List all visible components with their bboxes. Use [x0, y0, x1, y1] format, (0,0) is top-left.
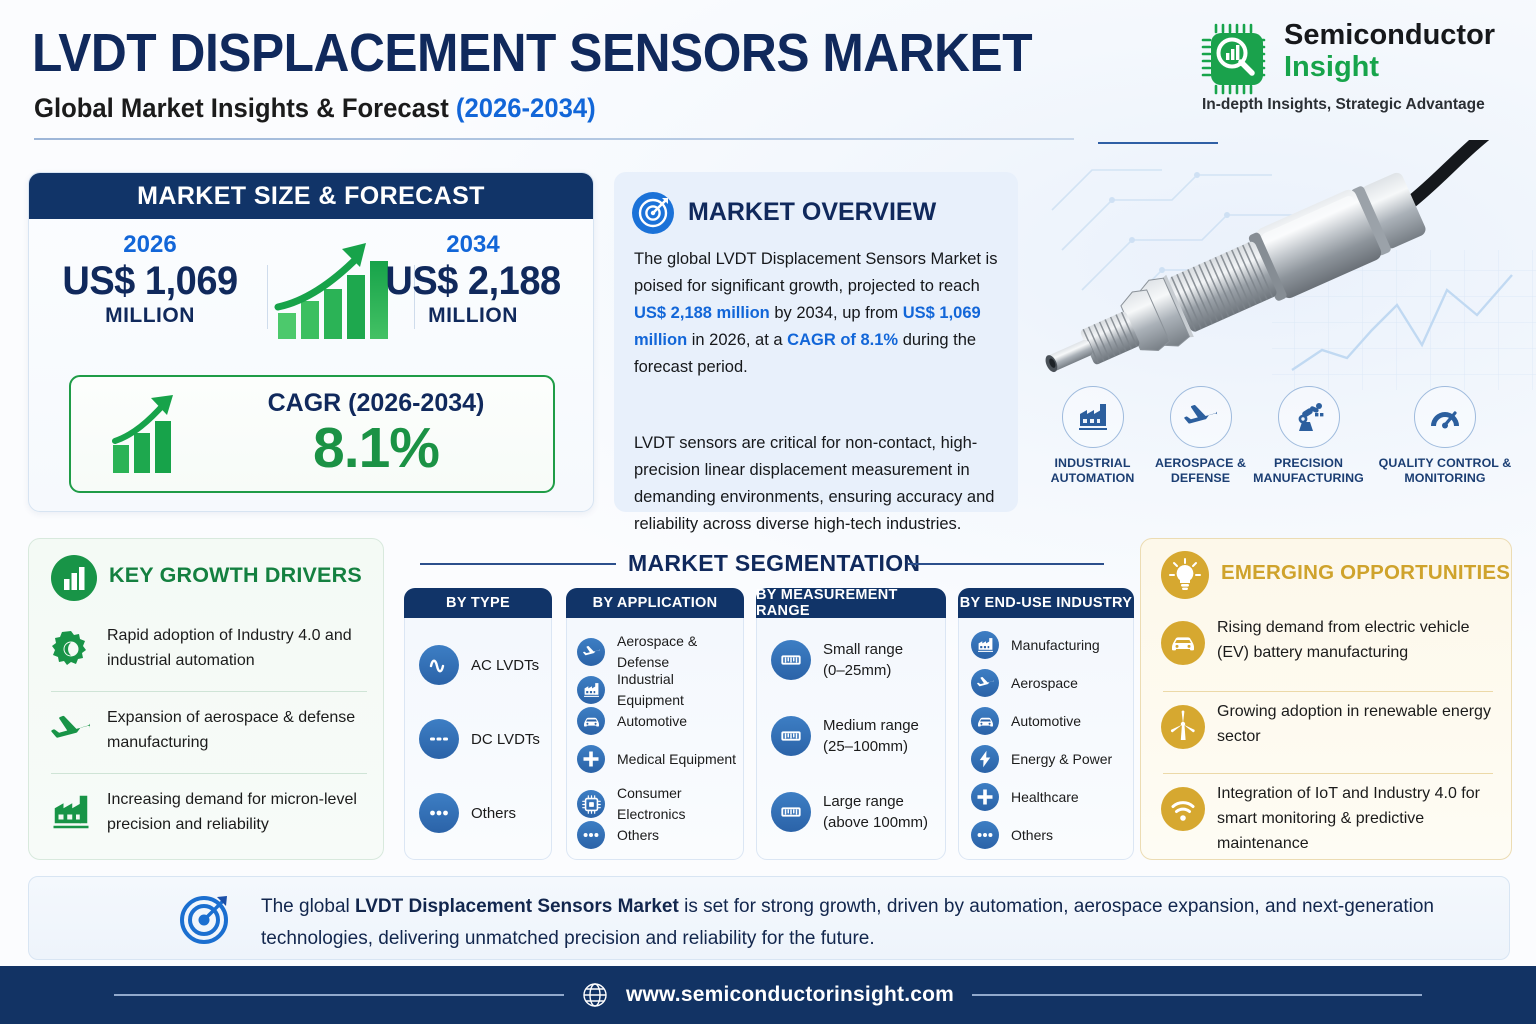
opportunity-text: Integration of IoT and Industry 4.0 for … — [1217, 781, 1503, 856]
segment-label: DC LVDTs — [471, 729, 540, 750]
subtitle-text: Global Market Insights & Forecast — [34, 93, 456, 123]
segment-item[interactable]: Energy & Power — [971, 745, 1112, 773]
car-icon — [1161, 621, 1205, 665]
airplane-icon — [577, 638, 605, 666]
footer-rule-right — [972, 994, 1422, 996]
segment-item[interactable]: Consumer Electronics — [577, 783, 743, 825]
segment-item[interactable]: DC LVDTs — [419, 719, 540, 759]
segment-label: Automotive — [1011, 711, 1081, 732]
segment-label: Others — [471, 803, 516, 824]
ellipsis-icon — [971, 821, 999, 849]
industry-label: INDUSTRIALAUTOMATION — [1030, 456, 1155, 486]
market-overview-paragraph-2: LVDT sensors are critical for non-contac… — [634, 430, 1002, 538]
forecast-value: US$ 2,188 — [369, 259, 578, 304]
ruler-icon — [771, 792, 811, 832]
airplane-icon — [971, 669, 999, 697]
segment-item[interactable]: Healthcare — [971, 783, 1079, 811]
driver-separator — [51, 773, 367, 774]
header-divider — [34, 138, 1074, 140]
gauge-icon — [1414, 386, 1476, 448]
opportunity-separator — [1163, 691, 1493, 692]
growth-bar-chart-arrow-icon — [109, 395, 187, 475]
industry-label: QUALITY CONTROL &MONITORING — [1360, 456, 1530, 486]
bar-chart-circle-icon — [51, 555, 97, 601]
driver-text: Expansion of aerospace & defense manufac… — [107, 705, 369, 755]
summary-bar: The global LVDT Displacement Sensors Mar… — [28, 876, 1510, 960]
footer-url: www.semiconductorinsight.com — [626, 983, 954, 1007]
ruler-icon — [771, 640, 811, 680]
opportunities-title: EMERGING OPPORTUNITIES — [1221, 561, 1510, 585]
key-growth-drivers-card: KEY GROWTH DRIVERS Rapid adoption of Ind… — [28, 538, 384, 860]
car-icon — [971, 707, 999, 735]
industry-aerospace-defense: AEROSPACE &DEFENSE — [1138, 386, 1263, 486]
chip-magnifier-bar-chart-icon — [1200, 22, 1274, 96]
gear-icon — [51, 629, 91, 669]
segmentation-title: MARKET SEGMENTATION — [628, 550, 920, 577]
segmentation-column-by-end-use-industry: BY END-USE INDUSTRY Manufacturing Aerosp… — [958, 588, 1134, 860]
market-size-card: MARKET SIZE & FORECAST 2026 US$ 1,069 MI… — [28, 172, 594, 512]
factory-icon — [1062, 386, 1124, 448]
medical-cross-icon — [971, 783, 999, 811]
ellipsis-icon — [419, 793, 459, 833]
subtitle-years: (2026-2034) — [456, 93, 596, 123]
segment-item[interactable]: Medical Equipment — [577, 745, 736, 773]
industry-label: AEROSPACE &DEFENSE — [1138, 456, 1263, 486]
forecast-year-block: 2034 US$ 2,188 MILLION — [363, 231, 583, 328]
forecast-year-label: 2034 — [363, 231, 583, 259]
chip-icon — [577, 790, 605, 818]
cagr-box: CAGR (2026-2034) 8.1% — [69, 375, 555, 493]
market-overview-paragraph-1: The global LVDT Displacement Sensors Mar… — [634, 246, 1002, 381]
market-overview-title: MARKET OVERVIEW — [688, 198, 936, 227]
infographic-page: LVDT DISPLACEMENT SENSORS MARKET Global … — [0, 0, 1536, 1024]
segment-label: Medical Equipment — [617, 749, 736, 770]
factory-icon — [971, 631, 999, 659]
segmentation-column-by-measurement-range: BY MEASUREMENT RANGE Small range (0–25mm… — [756, 588, 946, 860]
footer-rule-left — [114, 994, 564, 996]
opportunity-text: Rising demand from electric vehicle (EV)… — [1217, 615, 1503, 665]
logo-tagline: In-depth Insights, Strategic Advantage — [1202, 96, 1485, 114]
drivers-title: KEY GROWTH DRIVERS — [109, 563, 362, 588]
medical-cross-icon — [577, 745, 605, 773]
summary-text: The global LVDT Displacement Sensors Mar… — [261, 891, 1441, 955]
globe-icon — [582, 982, 608, 1008]
ruler-icon — [771, 716, 811, 756]
lightbulb-icon — [1161, 551, 1209, 599]
segment-item[interactable]: Medium range (25–100mm) — [771, 715, 919, 757]
segment-item[interactable]: AC LVDTs — [419, 645, 539, 685]
segmentation-column-by-application: BY APPLICATION Aerospace & Defense Indus… — [566, 588, 744, 860]
airplane-icon — [51, 711, 91, 751]
segment-item[interactable]: Others — [971, 821, 1053, 849]
forecast-unit: MILLION — [363, 304, 583, 328]
column-header: BY MEASUREMENT RANGE — [756, 588, 946, 618]
industry-icons-row: INDUSTRIALAUTOMATION AEROSPACE &DEFENSE — [1030, 386, 1530, 516]
driver-item-3: Increasing demand for micron-level preci… — [45, 779, 373, 857]
car-icon — [577, 707, 605, 735]
logo-name-line1: Semiconductor — [1284, 20, 1495, 51]
opportunity-text: Growing adoption in renewable energy sec… — [1217, 699, 1503, 749]
base-unit: MILLION — [41, 304, 259, 328]
segment-label: Small range (0–25mm) — [823, 639, 903, 681]
segment-label: Energy & Power — [1011, 749, 1112, 770]
bolt-icon — [971, 745, 999, 773]
segment-item[interactable]: Others — [419, 793, 516, 833]
segment-label: Aerospace & Defense — [617, 631, 743, 673]
segment-item[interactable]: Large range (above 100mm) — [771, 791, 928, 833]
cagr-value: 8.1% — [211, 415, 541, 481]
segmentation-column-by-type: BY TYPE AC LVDTs DC LVDTs Ot — [404, 588, 552, 860]
driver-text: Increasing demand for micron-level preci… — [107, 787, 369, 837]
industry-label: PRECISIONMANUFACTURING — [1246, 456, 1371, 486]
target-arrow-icon — [179, 893, 231, 945]
driver-item-1: Rapid adoption of Industry 4.0 and indus… — [45, 615, 373, 693]
market-overview-card: MARKET OVERVIEW The global LVDT Displace… — [614, 172, 1018, 512]
segment-item[interactable]: Automotive — [577, 707, 687, 735]
page-header: LVDT DISPLACEMENT SENSORS MARKET Global … — [0, 0, 1536, 150]
segment-label: Industrial Equipment — [617, 669, 743, 711]
factory-icon — [51, 793, 91, 833]
page-subtitle: Global Market Insights & Forecast (2026-… — [34, 93, 596, 124]
segmentation-rule-right — [908, 563, 1104, 565]
industry-precision-manufacturing: PRECISIONMANUFACTURING — [1246, 386, 1371, 486]
logo-name-line2: Insight — [1284, 52, 1379, 83]
segment-label: Medium range (25–100mm) — [823, 715, 919, 757]
industry-quality-control: QUALITY CONTROL &MONITORING — [1360, 386, 1530, 486]
segment-label: Manufacturing — [1011, 635, 1100, 656]
segment-item[interactable]: Small range (0–25mm) — [771, 639, 903, 681]
sine-wave-icon — [419, 645, 459, 685]
market-size-heading: MARKET SIZE & FORECAST — [29, 173, 593, 219]
driver-text: Rapid adoption of Industry 4.0 and indus… — [107, 623, 369, 673]
factory-icon — [577, 676, 605, 704]
opportunity-separator — [1163, 773, 1493, 774]
emerging-opportunities-card: EMERGING OPPORTUNITIES Rising demand fro… — [1140, 538, 1512, 860]
segment-item[interactable]: Manufacturing — [971, 631, 1100, 659]
segment-item[interactable]: Industrial Equipment — [577, 669, 743, 711]
column-header: BY TYPE — [404, 588, 552, 618]
base-year-label: 2026 — [41, 231, 259, 259]
driver-item-2: Expansion of aerospace & defense manufac… — [45, 697, 373, 775]
divider-left — [267, 265, 268, 329]
wind-turbine-icon — [1161, 705, 1205, 749]
segmentation-rule-left — [420, 563, 616, 565]
segment-item[interactable]: Others — [577, 821, 659, 849]
hero-sensor-image — [1022, 140, 1536, 390]
dashed-line-icon — [419, 719, 459, 759]
robot-arm-icon — [1278, 386, 1340, 448]
base-year-block: 2026 US$ 1,069 MILLION — [41, 231, 259, 328]
segment-item[interactable]: Aerospace & Defense — [577, 631, 743, 673]
ellipsis-icon — [577, 821, 605, 849]
segment-label: Automotive — [617, 711, 687, 732]
segment-label: Healthcare — [1011, 787, 1079, 808]
column-header: BY APPLICATION — [566, 588, 744, 618]
segment-label: Consumer Electronics — [617, 783, 743, 825]
segment-item[interactable]: Aerospace — [971, 669, 1078, 697]
airplane-icon — [1170, 386, 1232, 448]
segment-item[interactable]: Automotive — [971, 707, 1081, 735]
segment-label: AC LVDTs — [471, 655, 539, 676]
column-header: BY END-USE INDUSTRY — [958, 588, 1134, 618]
page-title: LVDT DISPLACEMENT SENSORS MARKET — [32, 22, 1032, 84]
segment-label: Aerospace — [1011, 673, 1078, 694]
page-footer: www.semiconductorinsight.com — [0, 966, 1536, 1024]
brand-logo: Semiconductor Insight In-depth Insights,… — [1184, 16, 1514, 128]
wifi-icon — [1161, 787, 1205, 831]
target-arrow-icon — [632, 192, 674, 234]
cagr-label: CAGR (2026-2034) — [211, 389, 541, 418]
segment-label: Others — [1011, 825, 1053, 846]
driver-separator — [51, 691, 367, 692]
industry-industrial-automation: INDUSTRIALAUTOMATION — [1030, 386, 1155, 486]
segment-label: Large range (above 100mm) — [823, 791, 928, 833]
base-value: US$ 1,069 — [46, 259, 253, 304]
segment-label: Others — [617, 825, 659, 846]
